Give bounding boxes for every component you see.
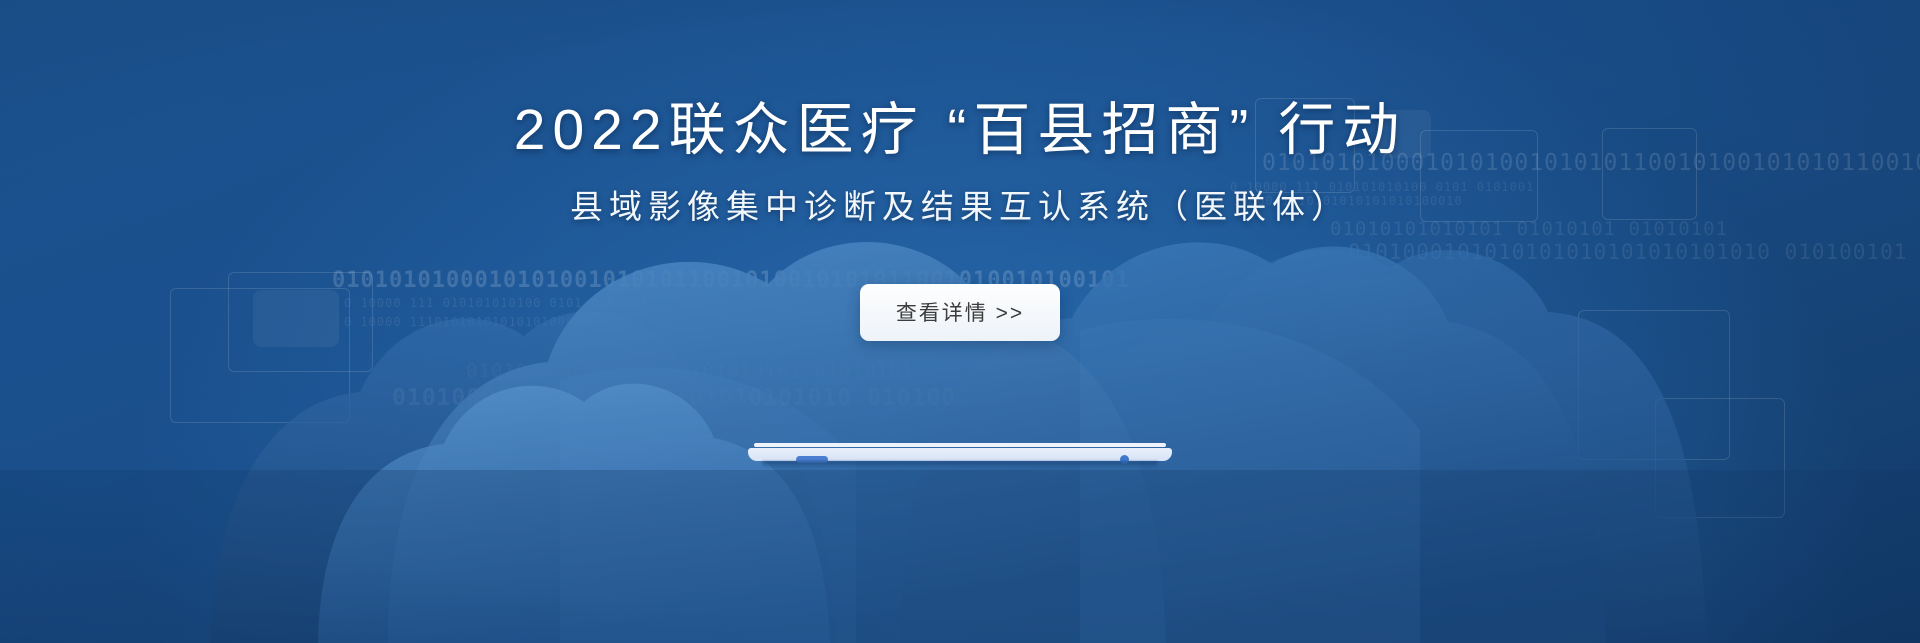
tablet-edge-graphic	[748, 443, 1172, 469]
promo-banner: 0101010100010101001010101100101001010101…	[0, 0, 1920, 643]
device-screen-edge	[754, 443, 1166, 447]
banner-title: 2022联众医疗 “百县招商” 行动	[0, 0, 1920, 166]
device-bezel	[748, 448, 1172, 461]
cta-container: 查看详情 >>	[0, 284, 1920, 341]
device-shadow	[762, 461, 1158, 468]
banner-subtitle: 县域影像集中诊断及结果互认系统（医联体）	[0, 166, 1920, 227]
view-details-button[interactable]: 查看详情 >>	[860, 284, 1060, 341]
banner-content: 2022联众医疗 “百县招商” 行动 县域影像集中诊断及结果互认系统（医联体） …	[0, 0, 1920, 341]
